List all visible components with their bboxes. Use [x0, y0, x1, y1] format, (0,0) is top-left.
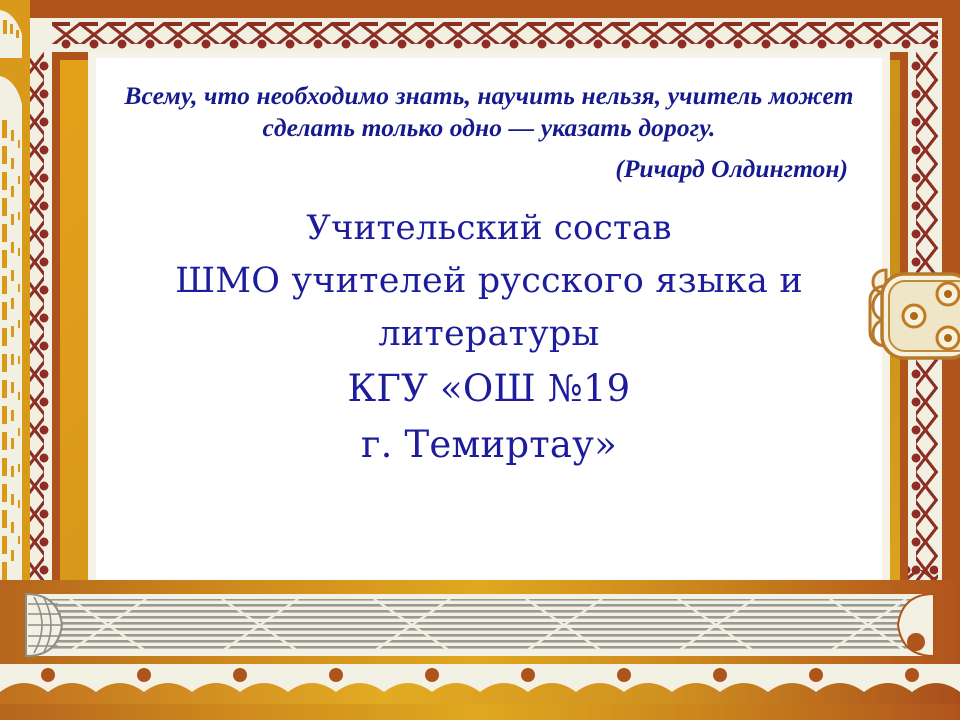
title-line-3: литературы — [116, 308, 862, 361]
quote-attribution: (Ричард Олдингтон) — [96, 144, 882, 185]
title-line-2: ШМО учителей русского языка и — [116, 255, 862, 308]
slide-canvas: Всему, что необходимо знать, научить нел… — [0, 0, 960, 720]
title-line-4: КГУ «ОШ №19 — [116, 361, 862, 417]
title-line-5: г. Темиртау» — [116, 417, 862, 473]
quote-text: Всему, что необходимо знать, научить нел… — [96, 58, 882, 144]
top-border-triangle-motif — [52, 22, 938, 52]
quote-line-1: Всему, что необходимо знать, научить нел… — [124, 81, 762, 110]
rolled-scroll-icon — [0, 580, 960, 720]
slide-content: Всему, что необходимо знать, научить нел… — [96, 58, 882, 580]
title-line-1: Учительский состав — [116, 203, 862, 255]
title-block: Учительский состав ШМО учителей русского… — [96, 185, 882, 474]
